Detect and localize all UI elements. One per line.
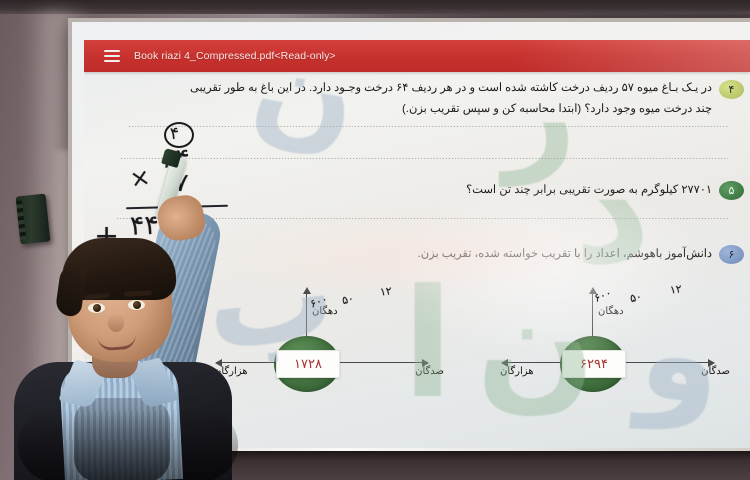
pdf-title: Book riazi 4_Compressed.pdf<Read-only> [134,50,336,62]
hamburger-menu-icon[interactable] [104,50,120,62]
screenshot-root: Book riazi 4_Compressed.pdf<Read-only> ۴… [0,0,750,480]
dahgan-arrow-up [592,294,593,340]
toolbar-glare [514,40,750,72]
question-5-badge: ۵ [719,181,744,200]
handwritten-times-symbol: × [128,164,152,191]
value-box-right: ۶۲۹۴ [562,350,626,378]
sadgan-label-left: صدگان [415,366,444,377]
student-boy [18,212,238,480]
hezargan-label-right: هزارگان [500,366,534,377]
wall-top-trim [0,0,750,14]
dahgan-label-right: دهگان [598,306,624,317]
place-value-diagram-right: دهگان ۶۲۹۴ صدگان هزارگان [498,284,718,404]
boy-lower-shadow [18,408,238,480]
value-number-left: ۱۷۲۸ [294,356,322,372]
boy-nose [108,314,124,332]
handwritten-annotation-l2: ۵۰ [341,293,355,307]
answer-dotline-2 [120,158,728,159]
question-4-line2: چند درخت میوه وجود دارد؟ (ابتدا محاسبه ک… [112,99,712,120]
sadgan-label-right: صدگان [701,366,730,377]
handwritten-annotation-r2: ۵۰ [629,291,643,305]
handwritten-annotation-r3: ۱۲ [669,283,682,296]
hezargan-arrow-right [502,362,562,363]
question-6-badge: ۶ [719,245,744,264]
handwritten-annotation-l3: ۱۲ [379,285,392,298]
question-5-text: ۲۷۷۰۱ کیلوگرم به صورت تقریبی برابر چند ت… [152,180,712,201]
sadgan-arrow-left [340,362,428,363]
pdf-toolbar: Book riazi 4_Compressed.pdf<Read-only> [84,40,750,72]
question-4-badge: ۴ [719,80,744,99]
value-box-left: ۱۷۲۸ [276,350,340,378]
value-number-right: ۶۲۹۴ [580,356,608,372]
question-4-line1: در یـک بـاغ میوه ۵۷ ردیف درخت کاشته شده … [190,82,712,94]
boy-eye-right [128,300,145,310]
sadgan-arrow-right [626,362,714,363]
boy-eye-left [88,303,105,313]
dahgan-arrow-up-left [306,294,307,340]
question-4-text: در یـک بـاغ میوه ۵۷ ردیف درخت کاشته شده … [112,78,712,120]
answer-dotline-1 [128,126,728,127]
